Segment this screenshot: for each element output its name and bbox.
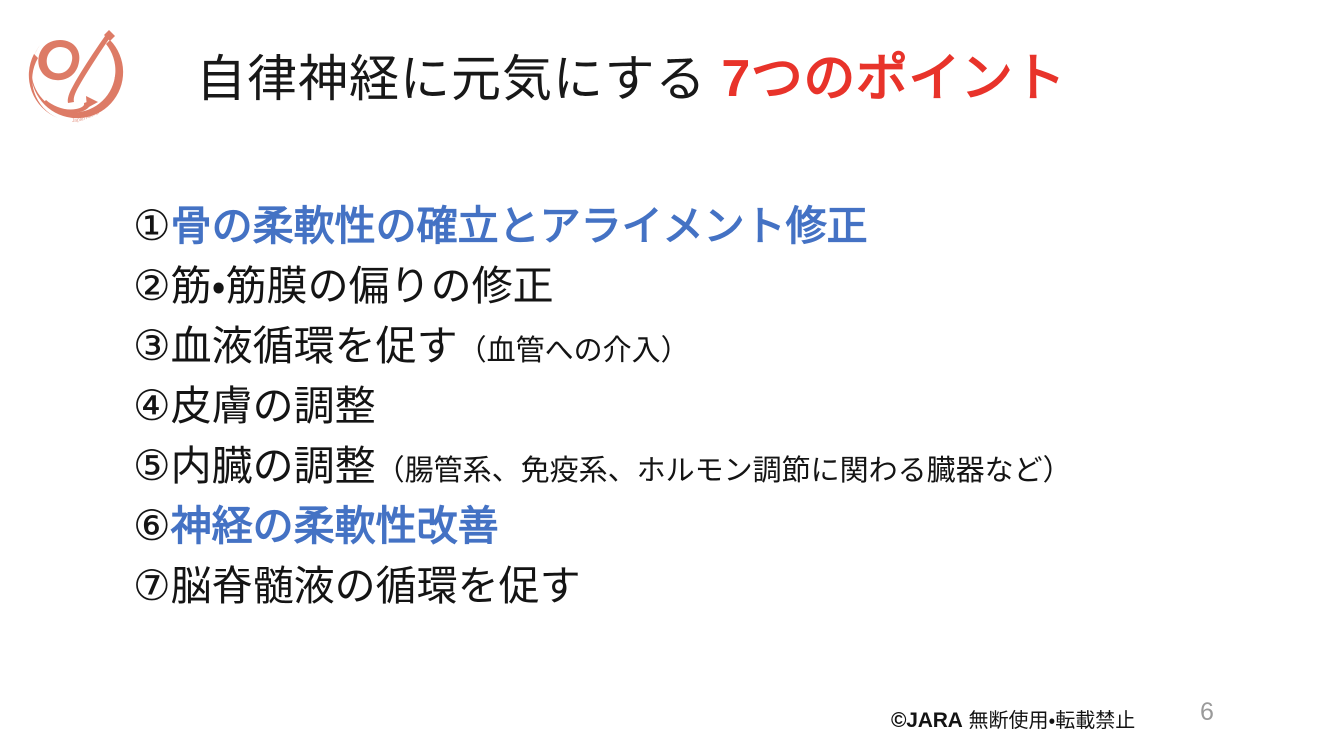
list-item-number: ⑤ [133, 442, 171, 489]
copyright-note: 無断使用・転載禁止 [968, 710, 1135, 732]
list-item-text: 血液循環を促す [171, 323, 458, 369]
list-item-note: （血管への介入） [458, 335, 690, 367]
title-plain-text: 自律神経に元気にする [196, 51, 721, 107]
slide-title: 自律神経に元気にする 7つのポイント [196, 52, 1066, 107]
list-item-note: （腸管系、免疫系、ホルモン調節に関わる臓器など） [376, 455, 1072, 487]
list-item-5: ⑤内臓の調整（腸管系、免疫系、ホルモン調節に関わる臓器など） [133, 436, 1283, 496]
jara-logo: Japan Allergy Reduction Associate [14, 14, 134, 134]
list-item-number: ② [133, 262, 171, 309]
list-item-number: ① [133, 202, 171, 249]
list-item-2: ②筋・筋膜の偏りの修正 [133, 256, 1283, 316]
list-item-6: ⑥神経の柔軟性改善 [133, 496, 1283, 556]
list-item-text: 脳脊髄液の循環を促す [171, 563, 581, 609]
list-item-text: 内臓の調整 [171, 443, 376, 489]
points-list: ①骨の柔軟性の確立とアライメント修正 ②筋・筋膜の偏りの修正 ③血液循環を促す（… [133, 196, 1283, 616]
page-number: 6 [1200, 698, 1214, 727]
list-item-7: ⑦脳脊髄液の循環を促す [133, 556, 1283, 616]
list-item-text: 皮膚の調整 [171, 383, 376, 429]
list-item-4: ④皮膚の調整 [133, 376, 1283, 436]
title-accent-text: 7つのポイント [721, 50, 1066, 108]
list-item-3: ③血液循環を促す（血管への介入） [133, 316, 1283, 376]
copyright-notice: ©JARA 無断使用・転載禁止 [891, 704, 1135, 733]
list-item-number: ⑥ [133, 502, 171, 549]
slide-canvas: Japan Allergy Reduction Associate 自律神経に元… [0, 0, 1320, 744]
list-item-text: 骨の柔軟性の確立とアライメント修正 [171, 203, 868, 249]
list-item-number: ④ [133, 382, 171, 429]
list-item-1: ①骨の柔軟性の確立とアライメント修正 [133, 196, 1283, 256]
copyright-mark: ©JARA [891, 709, 963, 732]
list-item-number: ⑦ [133, 562, 171, 609]
list-item-text: 筋・筋膜の偏りの修正 [171, 263, 554, 309]
list-item-number: ③ [133, 322, 171, 369]
list-item-text: 神経の柔軟性改善 [171, 503, 499, 549]
